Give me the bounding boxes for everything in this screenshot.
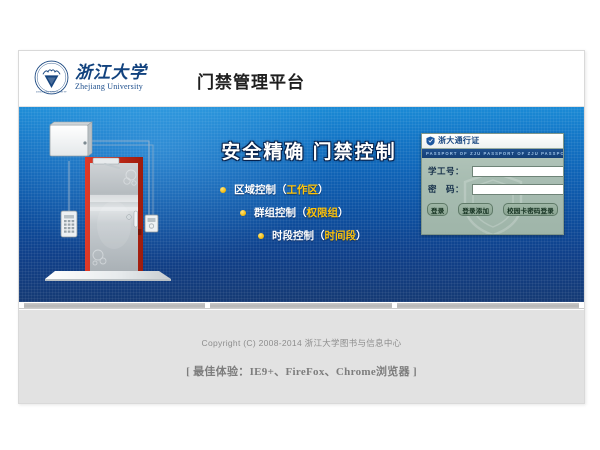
feature-label: 群组控制（: [254, 205, 307, 220]
feature-item-time: 时段控制（时间段）: [194, 228, 424, 243]
feature-highlight: 时间段: [325, 228, 357, 243]
divider-notch: [579, 302, 584, 308]
feature-suffix: ）: [318, 182, 329, 197]
form-row-password: 密 码：: [428, 183, 557, 195]
page-title: 门禁管理平台: [197, 68, 305, 93]
bullet-icon: [240, 210, 246, 216]
site-footer: Copyright (C) 2008-2014 浙江大学图书与信息中心 [ 最佳…: [19, 309, 584, 404]
copyright-text: Copyright (C) 2008-2014 浙江大学图书与信息中心: [19, 310, 584, 349]
passport-strip-text: PASSPORT OF ZJU PASSPORT OF ZJU PASSPORT…: [422, 151, 563, 156]
bullet-icon: [220, 187, 226, 193]
feature-label: 时段控制（: [272, 228, 325, 243]
login-panel: 浙大通行证 PASSPORT OF ZJU PASSPORT OF ZJU PA…: [421, 133, 564, 235]
shield-icon: [426, 136, 435, 146]
feature-list: 区域控制（工作区） 群组控制（权限组） 时段控制（时间段）: [194, 182, 424, 243]
feature-item-group: 群组控制（权限组）: [194, 205, 424, 220]
divider-notch: [205, 302, 210, 308]
divider-notch: [392, 302, 397, 308]
feature-highlight: 权限组: [307, 205, 339, 220]
site-header: ZHEJIANG UNIVERSITY 浙江大学 Zhejiang Univer…: [19, 51, 584, 107]
password-label: 密 码：: [428, 183, 472, 195]
page-container: ZHEJIANG UNIVERSITY 浙江大学 Zhejiang Univer…: [18, 50, 585, 404]
feature-item-area: 区域控制（工作区）: [194, 182, 424, 197]
campus-card-login-button[interactable]: 校园卡密码登录: [503, 203, 558, 216]
password-input[interactable]: [472, 184, 564, 195]
bullet-icon: [258, 233, 264, 239]
passport-strip: PASSPORT OF ZJU PASSPORT OF ZJU PASSPORT…: [422, 149, 563, 158]
logo-text-en: Zhejiang University: [75, 83, 147, 91]
banner-slogan: 安全精确 门禁控制: [194, 137, 424, 164]
svg-text:ZHEJIANG UNIVERSITY: ZHEJIANG UNIVERSITY: [36, 91, 67, 94]
feature-highlight: 工作区: [287, 182, 319, 197]
banner-slogan-block: 安全精确 门禁控制 区域控制（工作区） 群组控制（权限组） 时段控制（时间段）: [194, 137, 424, 259]
userid-input[interactable]: [472, 166, 564, 177]
door-access-control-illustration: [41, 119, 186, 294]
form-row-userid: 学工号：: [428, 165, 557, 177]
login-panel-title: 浙大通行证: [438, 137, 480, 145]
logo-text-cn: 浙江大学: [75, 64, 147, 81]
feature-suffix: ）: [356, 228, 367, 243]
section-divider: [19, 302, 584, 309]
browser-recommendation-text: [ 最佳体验：IE9+、FireFox、Chrome浏览器 ]: [19, 363, 584, 379]
login-form: 学工号： 密 码：: [422, 158, 563, 195]
hero-banner: 安全精确 门禁控制 区域控制（工作区） 群组控制（权限组） 时段控制（时间段）: [19, 107, 584, 302]
zju-emblem-icon: ZHEJIANG UNIVERSITY: [34, 60, 69, 95]
university-logo[interactable]: ZHEJIANG UNIVERSITY 浙江大学 Zhejiang Univer…: [34, 60, 147, 95]
userid-label: 学工号：: [428, 165, 472, 177]
login-panel-header: 浙大通行证: [422, 134, 563, 149]
feature-suffix: ）: [338, 205, 349, 220]
login-add-button[interactable]: 登录添加: [458, 203, 493, 216]
divider-notch: [19, 302, 24, 308]
feature-label: 区域控制（: [234, 182, 287, 197]
login-button[interactable]: 登录: [427, 203, 448, 216]
login-buttons: 登录 登录添加 校园卡密码登录: [422, 201, 563, 216]
